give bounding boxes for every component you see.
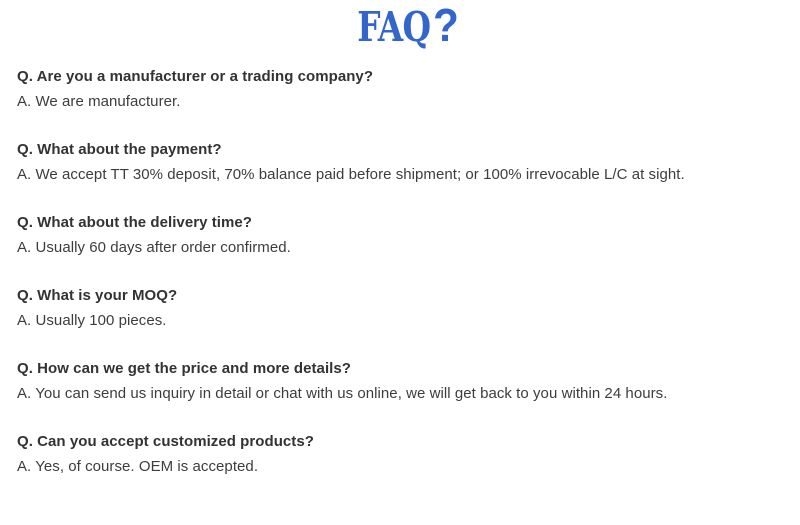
faq-item: Q. Can you accept customized products? A… [17,431,795,478]
faq-answer: A. We accept TT 30% deposit, 70% balance… [17,163,795,186]
faq-answer: A. Yes, of course. OEM is accepted. [17,455,795,478]
faq-page: FAQ? Q. Are you a manufacturer or a trad… [0,0,800,525]
page-title: FAQ? [0,2,800,48]
faq-item: Q. Are you a manufacturer or a trading c… [17,66,795,113]
faq-question: Q. Can you accept customized products? [17,431,795,453]
faq-answer: A. Usually 100 pieces. [17,309,795,332]
faq-answer: A. We are manufacturer. [17,90,795,113]
faq-item: Q. What about the payment? A. We accept … [17,139,795,186]
faq-title-text: FAQ [357,7,430,48]
faq-item: Q. What is your MOQ? A. Usually 100 piec… [17,285,795,332]
faq-question: Q. What about the payment? [17,139,795,161]
question-mark-icon: ? [433,2,459,48]
faq-answer: A. Usually 60 days after order confirmed… [17,236,795,259]
faq-question: Q. What about the delivery time? [17,212,795,234]
faq-item: Q. How can we get the price and more det… [17,358,795,405]
faq-question: Q. How can we get the price and more det… [17,358,795,380]
faq-item: Q. What about the delivery time? A. Usua… [17,212,795,259]
faq-question: Q. What is your MOQ? [17,285,795,307]
faq-answer: A. You can send us inquiry in detail or … [17,382,795,405]
faq-question: Q. Are you a manufacturer or a trading c… [17,66,795,88]
faq-list: Q. Are you a manufacturer or a trading c… [17,66,795,478]
